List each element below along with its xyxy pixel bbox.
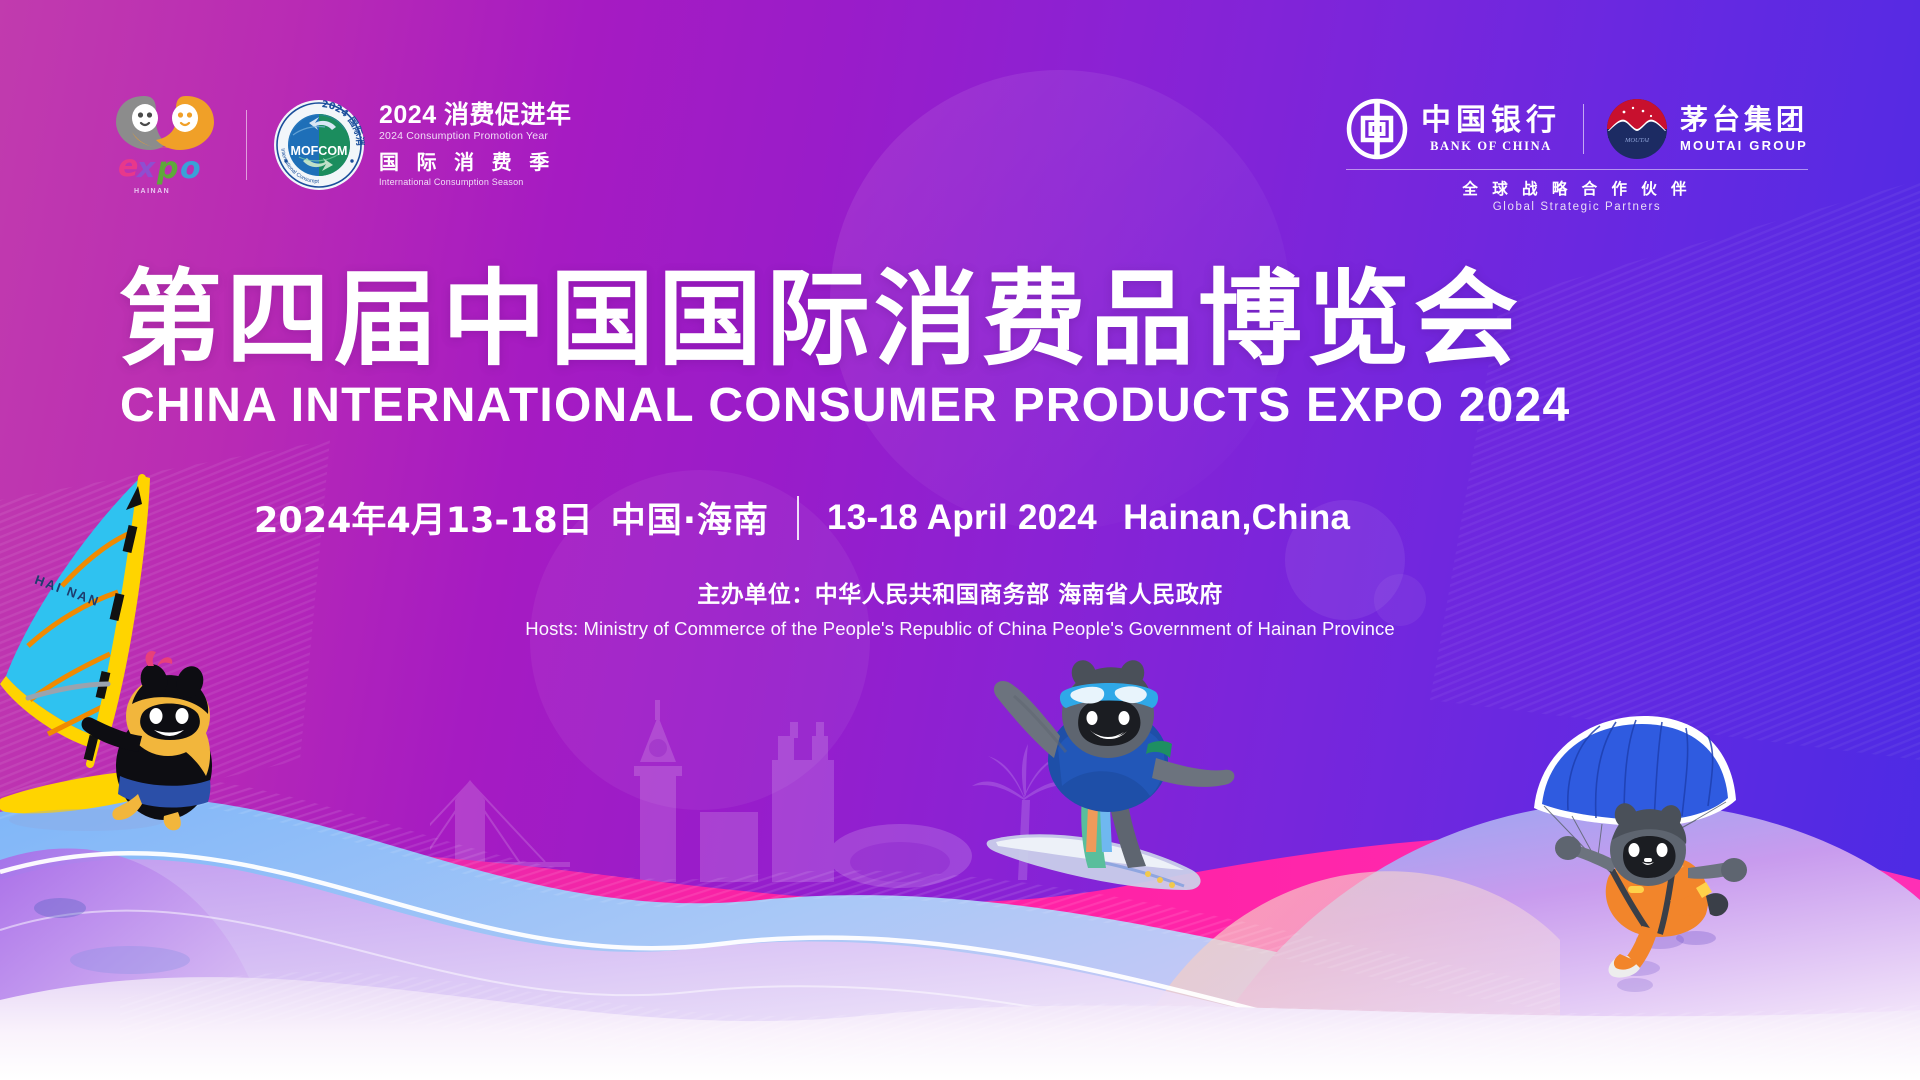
bank-of-china-icon [1346,98,1408,160]
hosts-cn-value: 中华人民共和国商务部 海南省人民政府 [815,582,1223,608]
moutai-badge-text: MOUTAI [1624,137,1650,144]
partners-caption-en: Global Strategic Partners [1346,201,1808,213]
mofcom-line-4: International Consumption Season [379,177,572,187]
expo-letter-x: x [137,154,155,182]
left-logo-group: e x p o HAINAN [112,92,572,197]
page-title-en: CHINA INTERNATIONAL CONSUMER PRODUCTS EX… [120,380,1570,433]
paragliding-mascot [1520,700,1860,990]
moutai-text: 茅台集团 MOUTAI GROUP [1680,105,1808,154]
partners-divider [1583,104,1584,154]
location-en: Hainan,China [1123,498,1350,538]
windsurfing-mascot: HAI NAN [0,468,292,868]
partners-row: 中国银行 BANK OF CHINA MO [1346,98,1808,160]
moutai-icon: MOUTAI [1606,98,1668,160]
moutai-logo: MOUTAI 茅台集团 MOUTAI GROUP [1606,98,1808,160]
moutai-name-cn: 茅台集团 [1680,105,1808,136]
date-cn: 2024年4月13-18日 [254,492,593,543]
expo-letter-p: p [157,154,178,184]
hainan-expo-heart-icon: e x p o HAINAN [112,92,220,197]
moutai-name-en: MOUTAI GROUP [1680,138,1808,153]
hosts-cn-label: 主办单位： [697,582,815,608]
banner-stage: e x p o HAINAN [0,0,1920,1080]
mofcom-line-3: 国 际 消 费 季 [379,146,572,175]
bank-of-china-text: 中国银行 BANK OF CHINA [1421,104,1561,154]
header-logo-bar: e x p o HAINAN [0,0,1920,230]
date-separator [797,496,799,540]
bank-of-china-logo: 中国银行 BANK OF CHINA [1346,98,1561,160]
mofcom-line-2: 2024 Consumption Promotion Year [379,130,572,142]
mofcom-text-block: 2024 消费促进年 2024 Consumption Promotion Ye… [379,102,572,186]
surfing-mascot [980,640,1300,970]
date-en: 13-18 April 2024 [827,498,1097,538]
mofcom-line-1: 2024 消费促进年 [379,102,572,128]
mofcom-logo-group: MOFCOM 2024 国际消费季 International Consumpt… [273,99,572,191]
location-cn: 中国·海南 [611,492,769,543]
date-location-row: 2024年4月13-18日 中国·海南 13-18 April 2024 Hai… [254,492,1350,543]
partners-logo-group: 中国银行 BANK OF CHINA MO [1346,98,1808,213]
expo-letter-o: o [180,154,201,184]
expo-letter-e: e [118,152,138,182]
expo-hainan-subtitle: HAINAN [134,188,170,195]
partners-caption-cn: 全 球 战 略 合 作 伙 伴 [1346,177,1808,199]
boc-name-en: BANK OF CHINA [1421,139,1561,154]
boc-name-cn: 中国银行 [1421,104,1561,137]
mofcom-badge-icon: MOFCOM 2024 国际消费季 International Consumpt… [273,99,365,191]
page-title-cn: 第四届中国国际消费品博览会 [118,262,1522,376]
partners-rule [1346,169,1808,170]
logo-divider [246,110,247,180]
mofcom-badge-text: MOFCOM [291,144,348,158]
